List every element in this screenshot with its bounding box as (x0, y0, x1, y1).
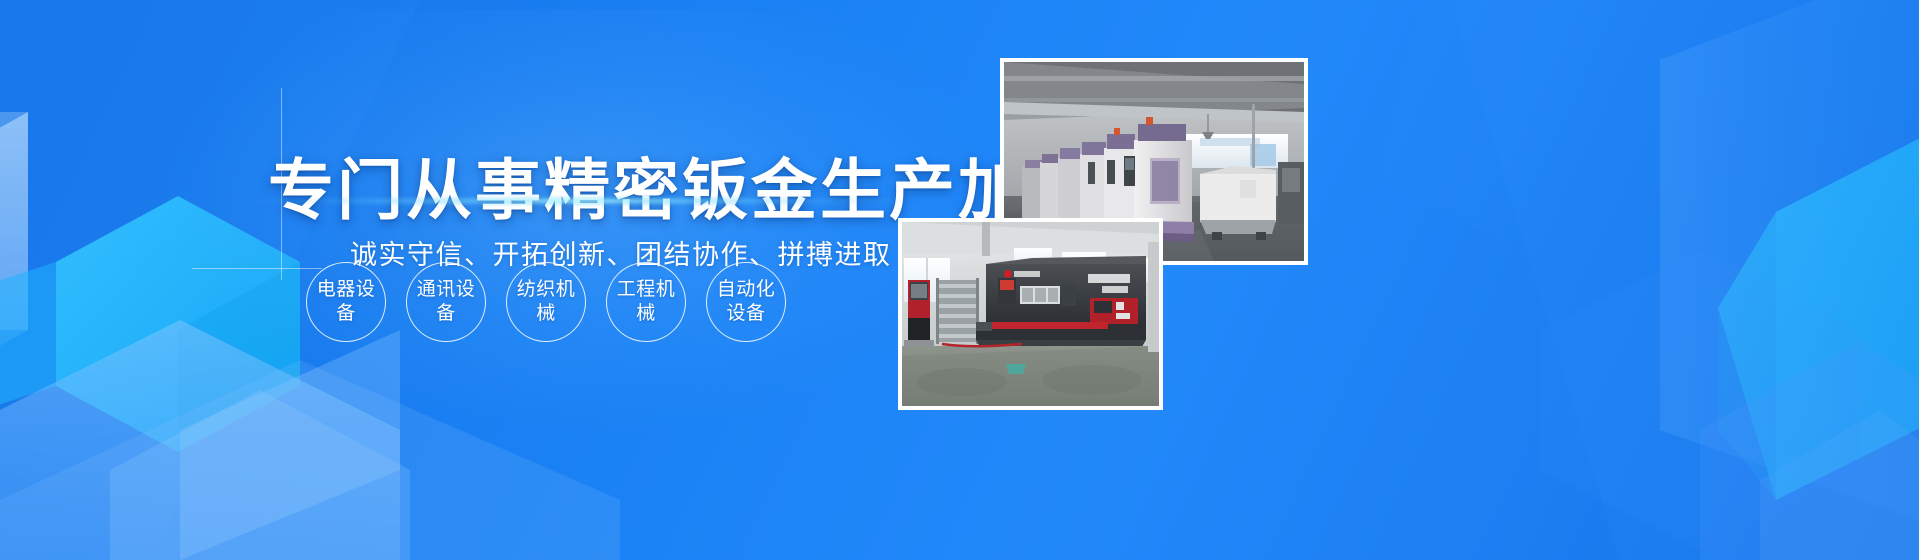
badge-label: 电器设备 (313, 278, 379, 326)
hero-banner: 专门从事精密钣金生产加工 诚实守信、开拓创新、团结协作、拼搏进取 电器设备 通讯… (0, 0, 1919, 560)
badge-label: 纺织机械 (513, 278, 579, 326)
badge-automation-equipment[interactable]: 自动化设备 (706, 262, 786, 342)
badge-engineering-machinery[interactable]: 工程机械 (606, 262, 686, 342)
badge-label: 通讯设备 (413, 278, 479, 326)
badge-communication-equipment[interactable]: 通讯设备 (406, 262, 486, 342)
photo-amada-turret-punch-press (898, 218, 1163, 410)
badge-electrical-equipment[interactable]: 电器设备 (306, 262, 386, 342)
banner-headline: 专门从事精密钣金生产加工 (268, 156, 1096, 225)
badge-label: 工程机械 (613, 278, 679, 326)
badge-textile-machinery[interactable]: 纺织机械 (506, 262, 586, 342)
category-badge-list: 电器设备 通讯设备 纺织机械 工程机械 自动化设备 (306, 262, 786, 342)
badge-label: 自动化设备 (713, 278, 779, 326)
